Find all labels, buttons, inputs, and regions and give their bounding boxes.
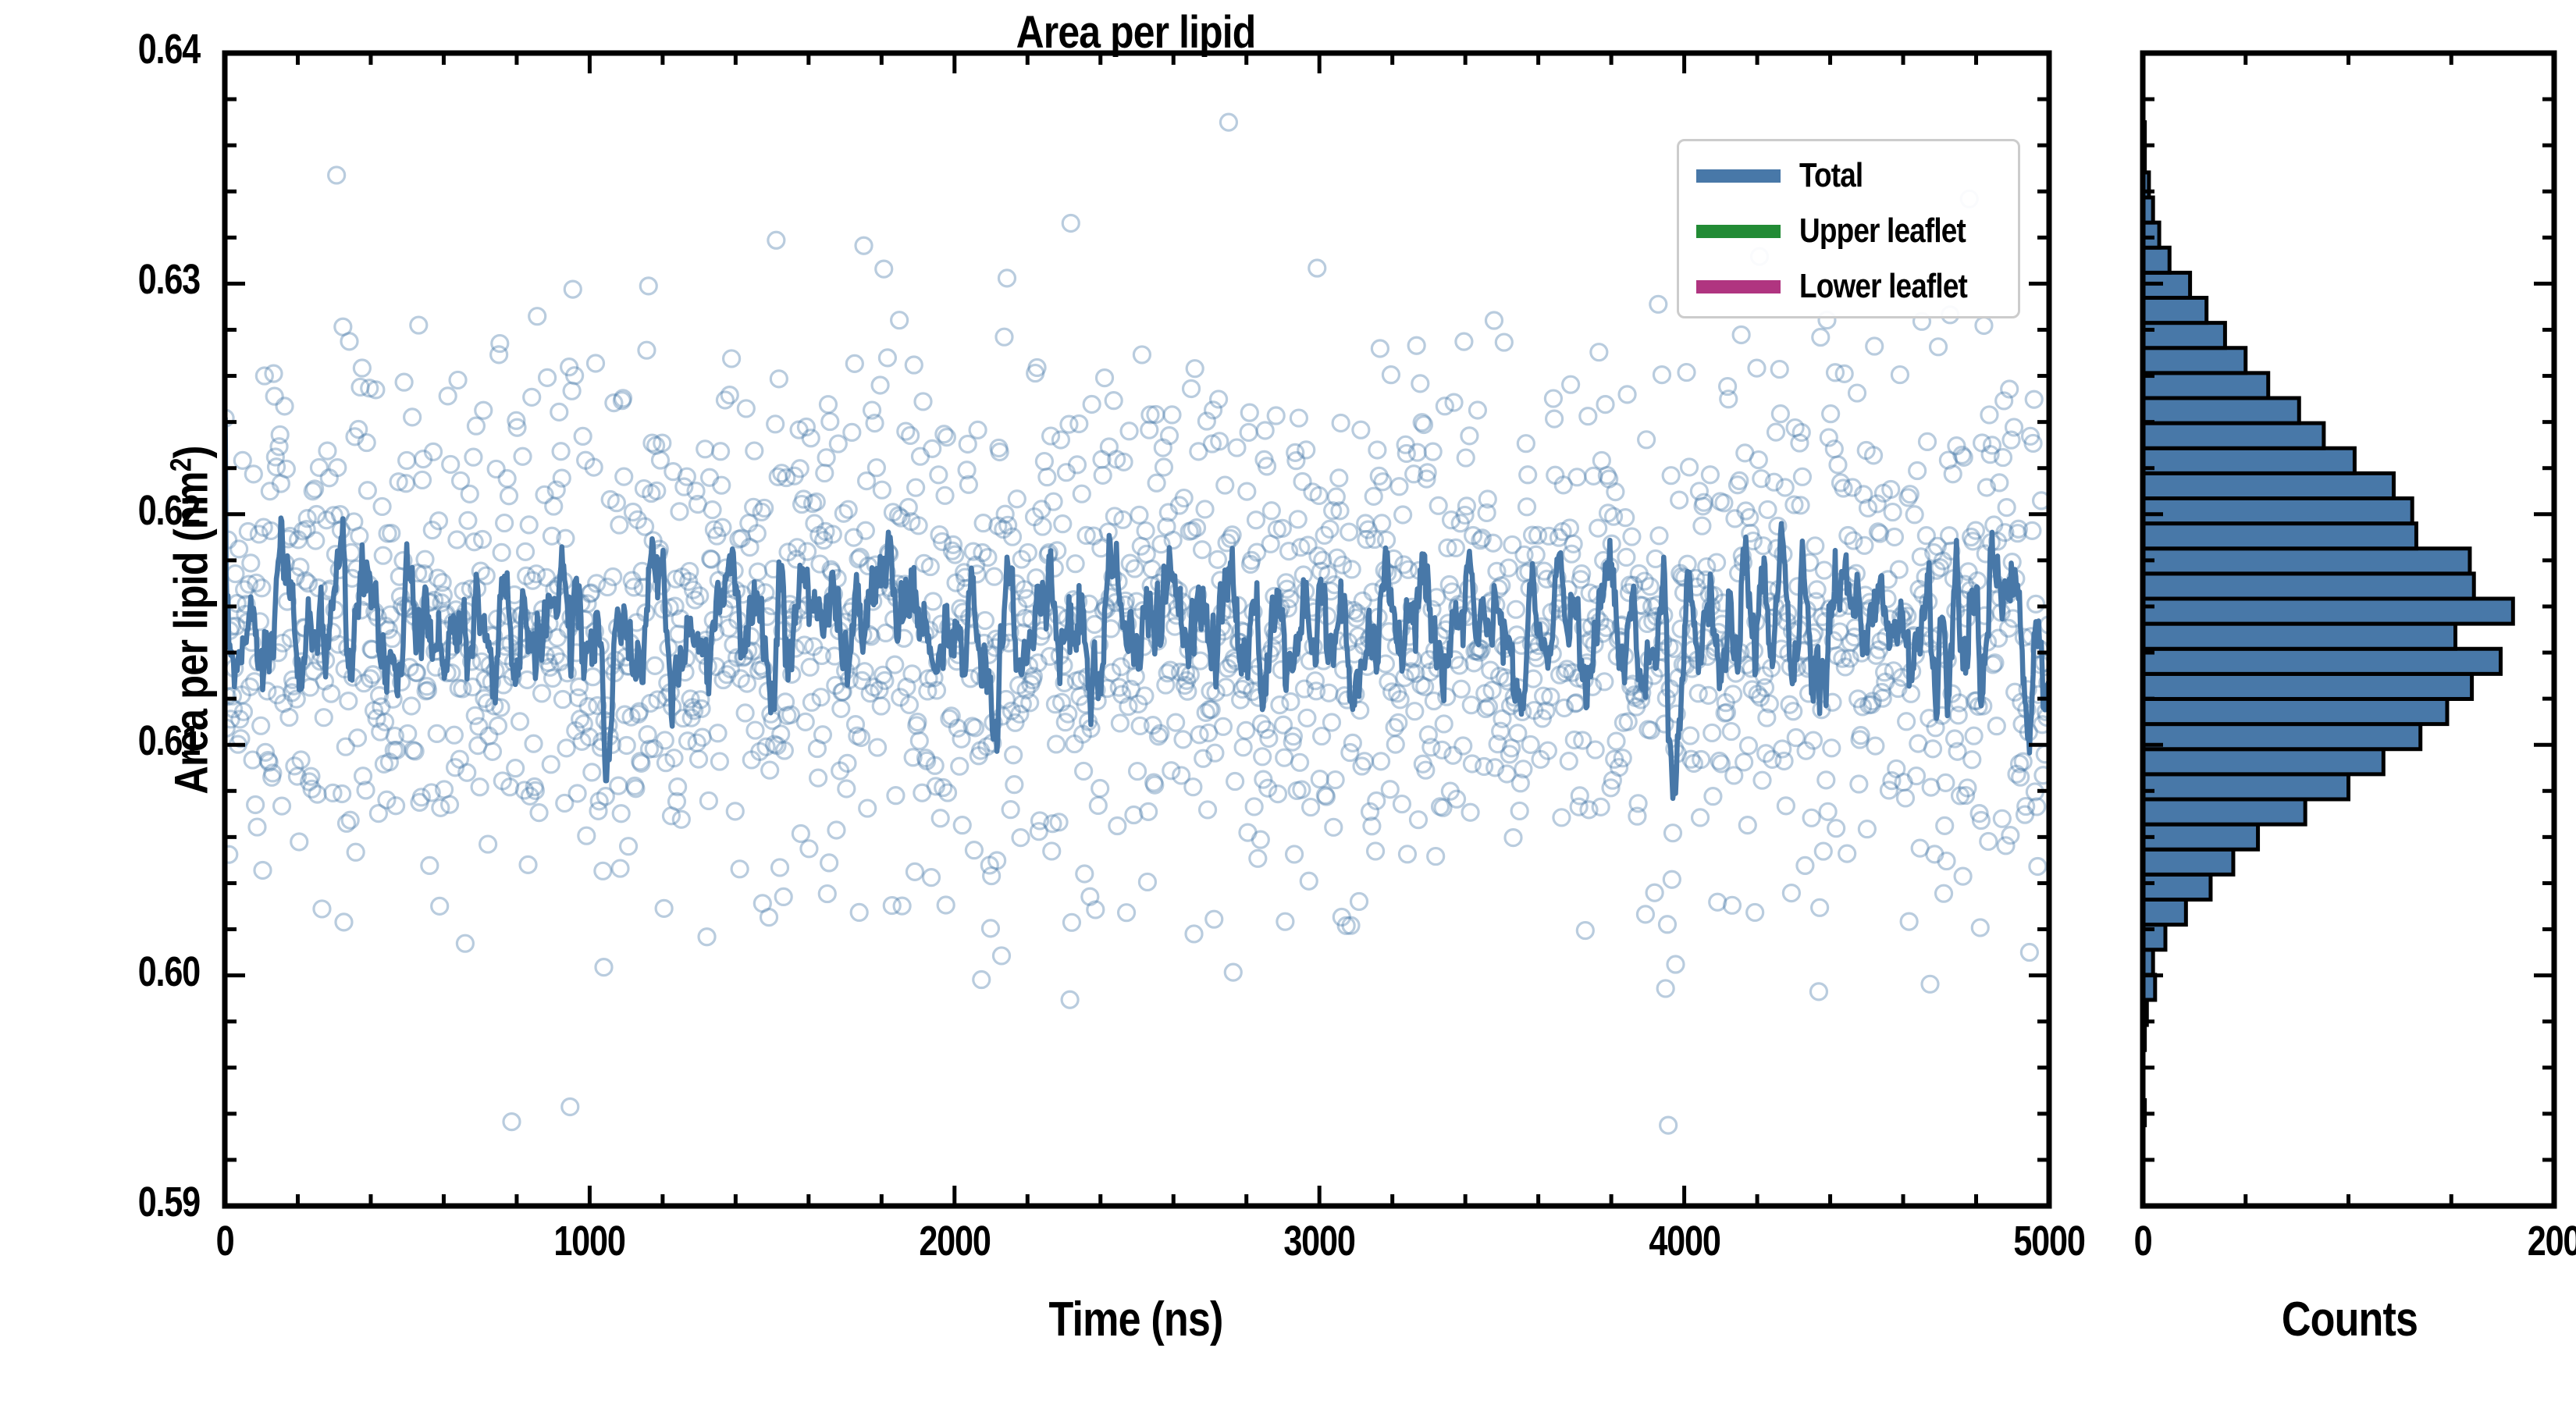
hist-x-tick-label: 0 [2062,1217,2224,1265]
marginal-histogram [0,0,2576,1405]
hist-x-axis-label: Counts [2176,1292,2523,1347]
hist-x-tick-label: 200 [2473,1217,2576,1265]
figure-canvas: Area per lipid 0.640.630.620.610.600.59 … [0,0,2576,1405]
